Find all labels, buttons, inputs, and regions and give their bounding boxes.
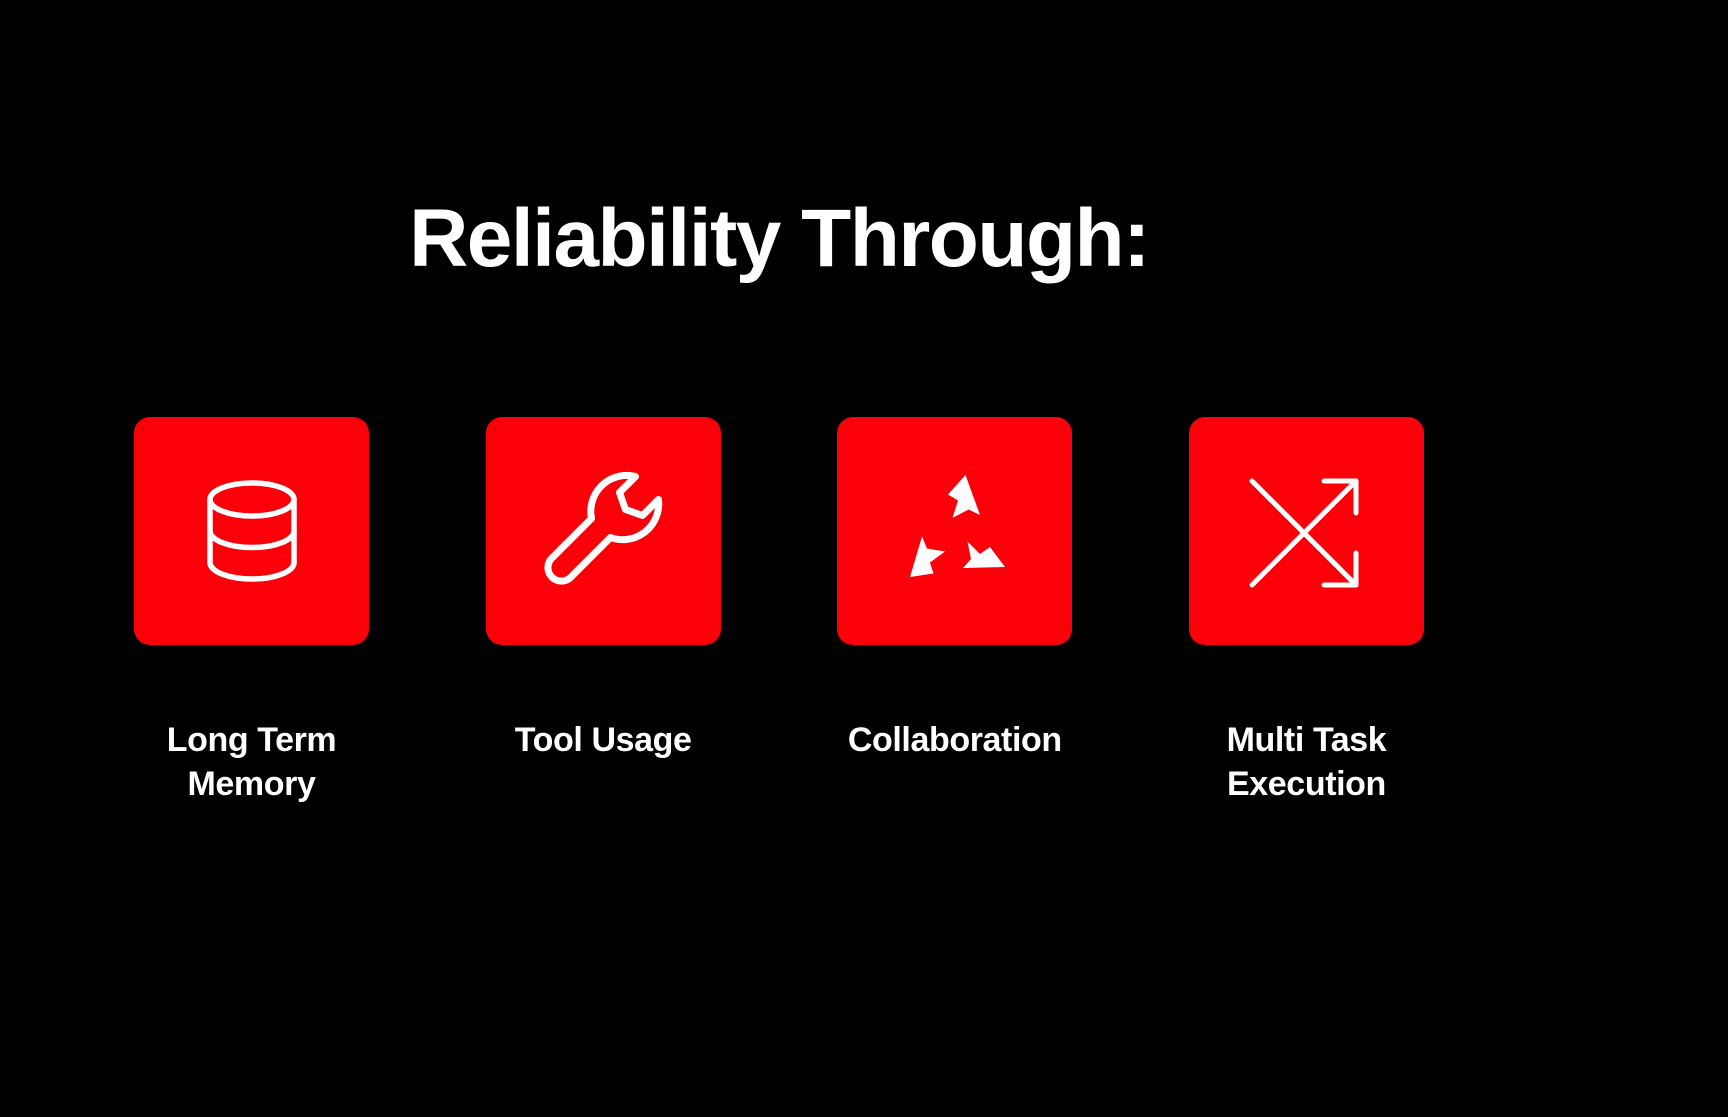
page-title: Reliability Through:	[0, 196, 1558, 282]
icon-tile-multi-task-execution	[1189, 417, 1424, 645]
shuffle-arrows-icon	[1244, 469, 1368, 593]
icon-tile-tool-usage	[486, 417, 721, 645]
recycle-arrows-icon	[892, 471, 1018, 591]
icon-tile-long-term-memory	[134, 417, 369, 645]
feature-card-label: Multi Task Execution	[1227, 719, 1387, 806]
wrench-icon	[540, 468, 666, 594]
feature-card-list: Long Term Memory Tool Usage	[134, 417, 1424, 806]
slide-root: Reliability Through: Long Term Memory	[0, 0, 1728, 1117]
feature-card-label: Tool Usage	[515, 719, 692, 763]
feature-card-tool-usage[interactable]: Tool Usage	[486, 417, 721, 763]
feature-card-long-term-memory[interactable]: Long Term Memory	[134, 417, 369, 806]
feature-card-label: Collaboration	[848, 719, 1062, 763]
feature-card-label: Long Term Memory	[167, 719, 337, 806]
database-icon	[190, 469, 314, 593]
icon-tile-collaboration	[837, 417, 1072, 645]
feature-card-collaboration[interactable]: Collaboration	[837, 417, 1072, 763]
feature-card-multi-task-execution[interactable]: Multi Task Execution	[1189, 417, 1424, 806]
